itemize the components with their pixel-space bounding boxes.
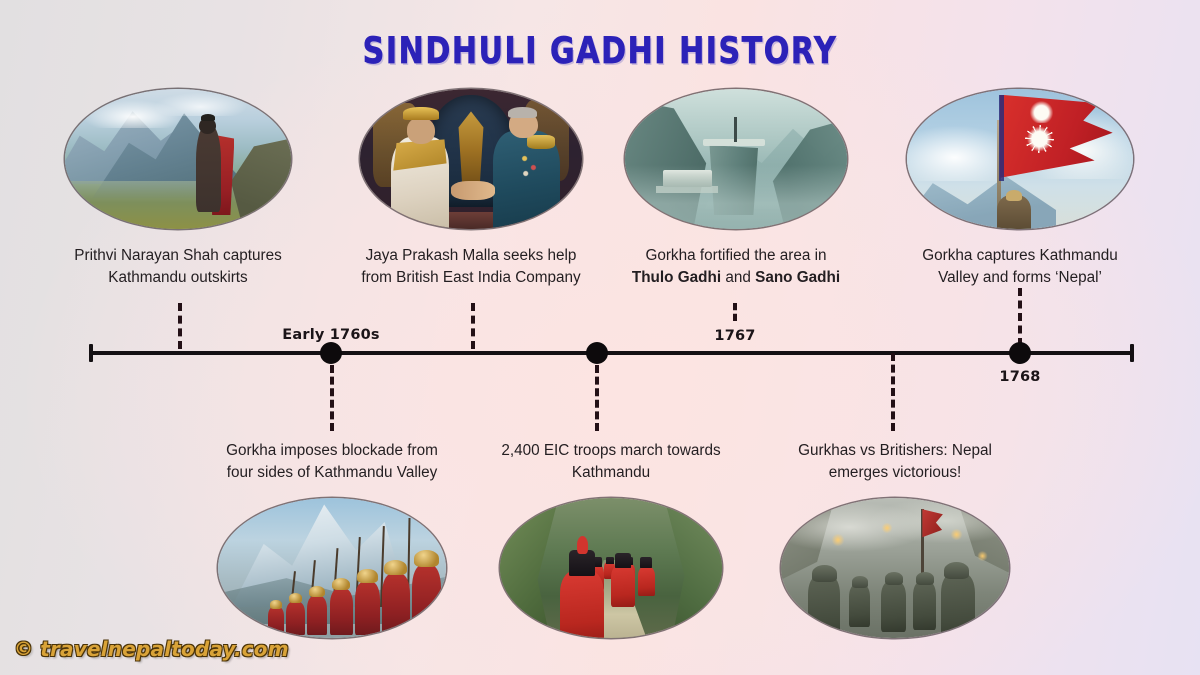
brass-helmet xyxy=(357,569,378,583)
shako-hat xyxy=(615,553,631,568)
nepal-flag-photo xyxy=(907,89,1133,229)
fire-ember xyxy=(831,534,845,545)
caption-line: four sides of Kathmandu Valley xyxy=(192,462,472,484)
caption-bold-sano-gadhi: Sano Gadhi xyxy=(755,269,840,286)
caption-blockade: Gorkha imposes blockade from four sides … xyxy=(192,440,472,483)
battle-soldier xyxy=(849,585,870,627)
cliff-fortress-photo xyxy=(625,89,847,229)
brass-helmet xyxy=(289,593,303,603)
mist-layer xyxy=(625,165,847,229)
handshake-layer xyxy=(451,181,495,199)
date-label-1767: 1767 xyxy=(714,328,755,344)
shako-hat xyxy=(606,557,614,564)
redcoats-marching-photo xyxy=(500,498,722,638)
connector-prithvi xyxy=(178,303,182,349)
watermark-text: travelnepaltoday.com xyxy=(40,637,289,661)
caption-bold-thulo-gadhi: Thulo Gadhi xyxy=(632,269,721,286)
brass-helmet xyxy=(384,560,407,575)
caption-line: Valley and forms ‘Nepal’ xyxy=(890,267,1150,289)
battle-soldier xyxy=(913,582,936,630)
shako-hat xyxy=(640,557,652,568)
caption-line: Gorkha imposes blockade from xyxy=(192,440,472,462)
gorkha-soldier xyxy=(268,607,284,635)
sun-emblem-layer xyxy=(1025,125,1054,153)
battle-helmet xyxy=(852,576,868,587)
caption-line: Prithvi Narayan Shah captures xyxy=(43,245,313,267)
medals-layer xyxy=(518,151,540,182)
caption-line: Kathmandu outskirts xyxy=(43,267,313,289)
flag-border-layer xyxy=(999,95,1004,182)
gorkha-soldier xyxy=(355,582,380,635)
battle-helmet xyxy=(944,562,969,579)
battle-helmet xyxy=(812,565,837,582)
brass-helmet xyxy=(332,578,350,591)
king-overlooking-valley-photo xyxy=(65,89,291,229)
axis-cap-right xyxy=(1130,344,1134,362)
gorkha-soldier xyxy=(330,589,353,635)
crown-layer xyxy=(403,107,439,120)
timeline-axis xyxy=(90,351,1134,355)
redcoat-soldier xyxy=(638,567,656,596)
brass-helmet xyxy=(270,600,281,608)
handshake-in-palace-photo xyxy=(360,89,582,229)
axis-cap-left xyxy=(89,344,93,362)
caption-eic-troops-march: 2,400 EIC troops march towards Kathmandu xyxy=(471,440,751,483)
caption-jaya-prakash-malla: Jaya Prakash Malla seeks help from Briti… xyxy=(326,245,616,288)
date-label-1768: 1768 xyxy=(999,369,1040,385)
gorkha-soldier xyxy=(412,565,442,635)
caption-line: emerges victorious! xyxy=(770,462,1020,484)
timeline-dot-mid[interactable] xyxy=(586,342,608,364)
epaulette-layer xyxy=(527,135,556,149)
moon-emblem-layer xyxy=(1029,100,1054,122)
figure-helmet-layer xyxy=(201,114,216,121)
battle-soldier xyxy=(881,582,906,632)
caption-line: Jaya Prakash Malla seeks help xyxy=(326,245,616,267)
caption-gorkha-fortified: Gorkha fortified the area in Thulo Gadhi… xyxy=(606,245,866,288)
watermark: © travelnepaltoday.com xyxy=(14,637,289,661)
battle-helmet xyxy=(885,572,903,585)
caption-line: Gorkha captures Kathmandu xyxy=(890,245,1150,267)
flag-bearer-helmet-layer xyxy=(1006,190,1022,201)
gorkha-soldier xyxy=(307,596,328,635)
red-plume xyxy=(577,536,588,554)
timeline-dot-1768[interactable] xyxy=(1009,342,1031,364)
copyright-icon: © xyxy=(14,638,33,660)
gorkha-spearmen-photo xyxy=(218,498,446,638)
brass-helmet xyxy=(309,586,325,597)
redcoat-soldier xyxy=(611,565,635,607)
caption-gurkhas-victorious: Gurkhas vs Britishers: Nepal emerges vic… xyxy=(770,440,1020,483)
connector-gurkhas-victorious xyxy=(891,353,895,431)
connector-blockade xyxy=(330,365,334,431)
nepali-king-head-layer xyxy=(407,117,436,144)
connector-jaya-prakash xyxy=(471,303,475,349)
flag-pole-layer xyxy=(734,117,737,142)
smoky-battle-photo xyxy=(781,498,1009,638)
redcoat-soldier-foreground xyxy=(560,571,604,638)
caption-line: Gorkha fortified the area in xyxy=(606,245,866,267)
caption-conjunction: and xyxy=(721,269,755,286)
caption-line: from British East India Company xyxy=(326,267,616,289)
figure-body-layer xyxy=(196,125,221,212)
connector-gorkha-captures xyxy=(1018,288,1022,346)
officer-hair-layer xyxy=(508,107,537,118)
date-label-early-1760s: Early 1760s xyxy=(282,327,380,343)
connector-eic-march xyxy=(595,365,599,431)
caption-line: Thulo Gadhi and Sano Gadhi xyxy=(606,267,866,289)
caption-line: 2,400 EIC troops march towards xyxy=(471,440,751,462)
gorkha-soldier xyxy=(382,574,409,636)
battle-soldier xyxy=(808,576,840,638)
battle-soldier xyxy=(941,574,975,638)
brass-helmet xyxy=(414,550,439,567)
gorkha-soldier xyxy=(286,602,304,636)
caption-line: Gurkhas vs Britishers: Nepal xyxy=(770,440,1020,462)
fire-ember xyxy=(881,523,892,533)
connector-gorkha-fortified xyxy=(733,303,737,321)
page-title: SINDHULI GADHI HISTORY xyxy=(18,30,1182,72)
caption-gorkha-captures-kathmandu: Gorkha captures Kathmandu Valley and for… xyxy=(890,245,1150,288)
cloud-layer xyxy=(155,93,245,115)
caption-prithvi-narayan-shah: Prithvi Narayan Shah captures Kathmandu … xyxy=(43,245,313,288)
infographic-canvas: SINDHULI GADHI HISTORY xyxy=(0,0,1200,675)
battle-helmet xyxy=(916,572,934,585)
timeline-dot-early-1760s[interactable] xyxy=(320,342,342,364)
caption-line: Kathmandu xyxy=(471,462,751,484)
